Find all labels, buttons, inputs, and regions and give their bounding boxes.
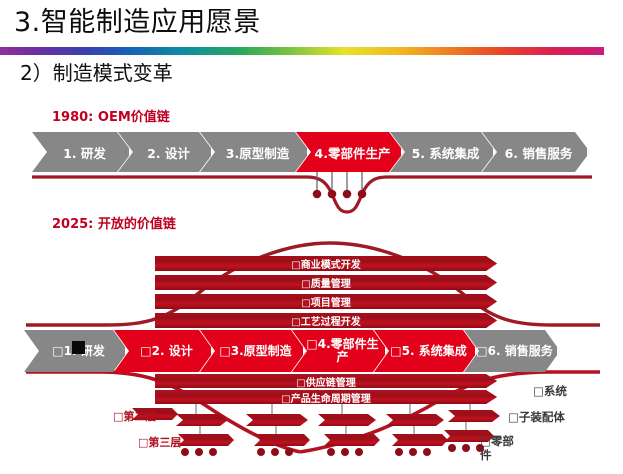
rainbow-divider-icon [0,47,604,55]
future-top-bar-4[interactable]: □工艺过程开发 [155,313,497,328]
legacy-stage-5-label: 5. 系统集成 [404,143,480,162]
slide-root: 3.智能制造应用愿景 2）制造模式变革 1980: OEM价值链 1. 研发 2… [0,0,623,474]
legacy-funnel-curve [32,172,592,212]
cursor-marker-icon [72,341,85,354]
page-title: 3.智能制造应用愿景 [14,6,261,40]
future-value-chain: □1. 研发 □2. 设计 □3.原型制造 □4.零部件生产 □5. 系统集成 … [24,330,600,372]
legacy-stage-4[interactable]: 4.零部件生产 [296,132,404,172]
future-bottom-bar-2-label: □产品生命周期管理 [281,390,370,405]
node-label-component: □零部件 [480,434,520,462]
future-top-bar-1-label: □商业模式开发 [291,256,360,271]
hierarchy-tree [132,404,500,456]
future-stage-3[interactable]: □3.原型制造 [200,330,306,372]
legacy-stage-3[interactable]: 3.原型制造 [200,132,310,172]
legacy-value-chain: 1. 研发 2. 设计 3.原型制造 4.零部件生产 5. 系统集成 6. 销售… [32,132,592,172]
future-stage-5[interactable]: □5. 系统集成 [374,330,478,372]
future-top-bar-2[interactable]: □质量管理 [155,275,497,290]
legacy-stage-3-label: 3.原型制造 [218,143,289,162]
future-stage-5-label: □5. 系统集成 [382,345,466,358]
legacy-stage-5[interactable]: 5. 系统集成 [390,132,496,172]
node-label-subassembly: □子装配体 [508,410,565,424]
future-top-bar-1[interactable]: □商业模式开发 [155,256,497,271]
future-stage-2-label: □2. 设计 [132,345,192,358]
future-stage-4[interactable]: □4.零部件生产 [292,330,388,372]
legacy-stage-1[interactable]: 1. 研发 [32,132,132,172]
future-top-bar-3-label: □项目管理 [301,294,350,309]
future-stage-6[interactable]: □6. 销售服务 [464,330,560,372]
legacy-section-label: 1980: OEM价值链 [52,106,170,125]
legacy-stage-6-label: 6. 销售服务 [497,143,573,162]
future-section-label: 2025: 开放的价值链 [52,213,176,232]
legacy-stage-1-label: 1. 研发 [55,143,106,162]
node-label-system: □系统 [533,384,567,398]
future-stage-3-label: □3.原型制造 [211,345,291,358]
layer-label-second: □第二层 [113,408,156,424]
future-top-bar-2-label: □质量管理 [301,275,350,290]
legacy-stage-4-label: 4.零部件生产 [307,143,391,162]
future-bottom-bar-1-label: □供应链管理 [296,374,355,389]
legacy-stage-2-label: 2. 设计 [139,143,190,162]
future-stage-2[interactable]: □2. 设计 [114,330,214,372]
legacy-stage-6[interactable]: 6. 销售服务 [482,132,590,172]
future-top-bar-4-label: □工艺过程开发 [291,313,360,328]
section-subtitle: 2）制造模式变革 [20,60,173,86]
layer-label-third: □第三层 [138,434,181,450]
future-bottom-bar-2[interactable]: □产品生命周期管理 [155,390,497,404]
future-top-bar-3[interactable]: □项目管理 [155,294,497,309]
future-bottom-bar-1[interactable]: □供应链管理 [155,374,497,388]
future-stage-6-label: □6. 销售服务 [468,345,552,358]
legacy-stage-2[interactable]: 2. 设计 [118,132,214,172]
future-stage-4-label: □4.零部件生产 [296,338,381,364]
